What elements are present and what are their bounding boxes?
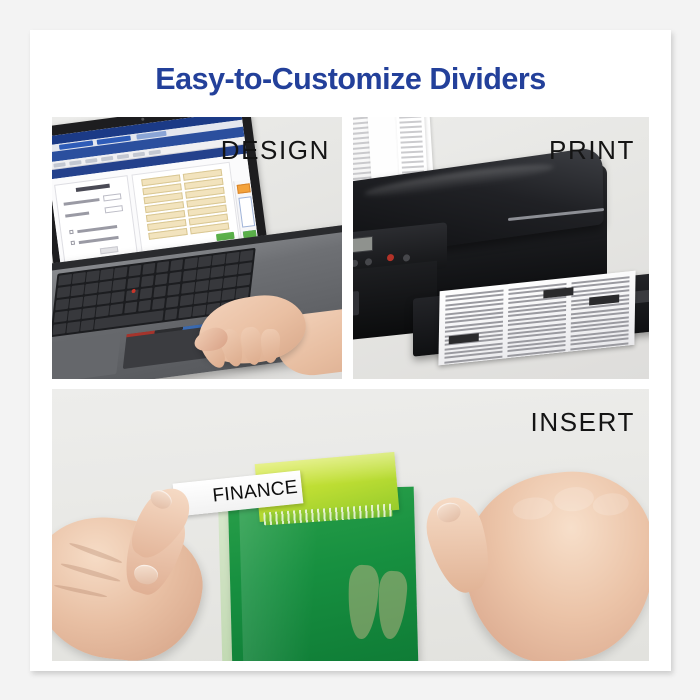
keyboard-key[interactable] — [72, 272, 86, 284]
keyboard-key[interactable] — [184, 257, 198, 269]
keyboard-key[interactable] — [224, 264, 238, 276]
form-field-label — [65, 212, 89, 218]
knuckle-highlight — [592, 492, 630, 518]
keyboard-key[interactable] — [178, 306, 192, 318]
form-checkbox[interactable] — [69, 230, 73, 234]
printer-front-panel-door[interactable] — [353, 291, 359, 317]
finger — [261, 329, 280, 363]
keyboard-key[interactable] — [139, 287, 153, 299]
keyboard-key[interactable] — [82, 307, 96, 319]
printer-power-button[interactable] — [387, 254, 394, 262]
keyboard-key[interactable] — [71, 284, 85, 296]
form-field-label — [64, 198, 100, 206]
form-input[interactable] — [103, 193, 122, 201]
rail-template-outline[interactable] — [238, 196, 255, 227]
palm-rest-left — [52, 333, 121, 379]
printed-text-column — [570, 276, 629, 365]
palm-crease — [68, 541, 122, 565]
keyboard-key[interactable] — [152, 298, 166, 310]
keyboard-key[interactable] — [66, 321, 80, 333]
form-checkbox[interactable] — [71, 241, 75, 245]
keyboard-key[interactable] — [169, 271, 183, 283]
printed-text-column — [444, 290, 503, 366]
keyboard-key[interactable] — [212, 254, 226, 266]
keyboard-key[interactable] — [86, 270, 100, 282]
screenshot-stage: Easy-to-Customize Dividers — [0, 0, 700, 700]
keyboard-key[interactable] — [96, 305, 110, 317]
left-hand — [52, 461, 240, 661]
keyboard-key[interactable] — [167, 284, 181, 296]
printer-button[interactable] — [365, 258, 372, 266]
keyboard-key[interactable] — [83, 295, 97, 307]
panel-label-print: PRINT — [549, 135, 635, 166]
keyboard-key[interactable] — [97, 293, 111, 305]
printer-button[interactable] — [403, 254, 410, 262]
form-option-label — [77, 225, 117, 233]
keyboard-key[interactable] — [237, 274, 251, 286]
keyboard-key[interactable] — [164, 308, 178, 320]
keyboard-key[interactable] — [180, 294, 194, 306]
printer-lcd-screen — [353, 236, 373, 255]
keyboard-key[interactable] — [128, 265, 142, 277]
keyboard-key[interactable] — [238, 262, 252, 274]
page-title: Easy-to-Customize Dividers — [30, 62, 671, 97]
palm-crease — [54, 584, 108, 599]
keyboard-key[interactable] — [113, 279, 127, 291]
keyboard-key[interactable] — [85, 282, 99, 294]
keyboard-key[interactable] — [68, 309, 82, 321]
form-cancel-button[interactable] — [100, 246, 119, 254]
keyboard-key[interactable] — [138, 299, 152, 311]
keyboard-key[interactable] — [141, 275, 155, 287]
keyboard-key[interactable] — [211, 266, 225, 278]
keyboard-key[interactable] — [55, 298, 69, 310]
form-input[interactable] — [104, 205, 123, 213]
keyboard-key[interactable] — [166, 296, 180, 308]
panel-print: PRINT — [353, 117, 649, 379]
printed-text-columns — [444, 276, 629, 360]
design-form-panel — [54, 175, 138, 266]
keyboard-key[interactable] — [99, 281, 113, 293]
keyboard-key[interactable] — [170, 259, 184, 271]
keyboard-key[interactable] — [58, 274, 72, 286]
keyboard-key[interactable] — [124, 301, 138, 313]
keyboard-key[interactable] — [223, 276, 237, 288]
knuckle-highlight — [553, 485, 595, 513]
product-image-card: Easy-to-Customize Dividers — [30, 30, 671, 671]
rail-selected-template[interactable] — [237, 183, 251, 194]
keyboard-key[interactable] — [240, 250, 254, 262]
keyboard-key[interactable] — [142, 263, 156, 275]
keyboard-key[interactable] — [114, 267, 128, 279]
keyboard-key[interactable] — [181, 282, 195, 294]
panel-label-insert: INSERT — [531, 407, 635, 438]
keyboard-key[interactable] — [80, 319, 94, 331]
panel-insert: FINANCE — [52, 389, 649, 661]
hand-on-keyboard — [198, 289, 342, 379]
keyboard-key[interactable] — [153, 285, 167, 297]
keyboard-key[interactable] — [183, 270, 197, 282]
keyboard-key[interactable] — [198, 256, 212, 268]
keyboard-key[interactable] — [127, 277, 141, 289]
printer-button[interactable] — [353, 260, 358, 268]
keyboard-key[interactable] — [52, 323, 66, 335]
keyboard-key[interactable] — [226, 252, 240, 264]
keyboard-key[interactable] — [100, 268, 114, 280]
knuckle-highlight — [512, 495, 554, 521]
keyboard-key[interactable] — [111, 291, 125, 303]
right-hand — [425, 439, 649, 661]
keyboard-key[interactable] — [54, 311, 68, 323]
palm-crease — [60, 562, 121, 584]
panel-design: DESIGN — [52, 117, 342, 379]
keyboard-key[interactable] — [155, 273, 169, 285]
keyboard-key[interactable] — [197, 268, 211, 280]
keyboard-key[interactable] — [69, 296, 83, 308]
keyboard-key[interactable] — [156, 261, 170, 273]
panel-label-design: DESIGN — [221, 135, 330, 166]
keyboard-key[interactable] — [57, 286, 71, 298]
form-heading — [76, 184, 110, 192]
keyboard-key[interactable] — [110, 303, 124, 315]
webcam-icon — [141, 118, 144, 121]
form-option-label — [79, 236, 119, 244]
